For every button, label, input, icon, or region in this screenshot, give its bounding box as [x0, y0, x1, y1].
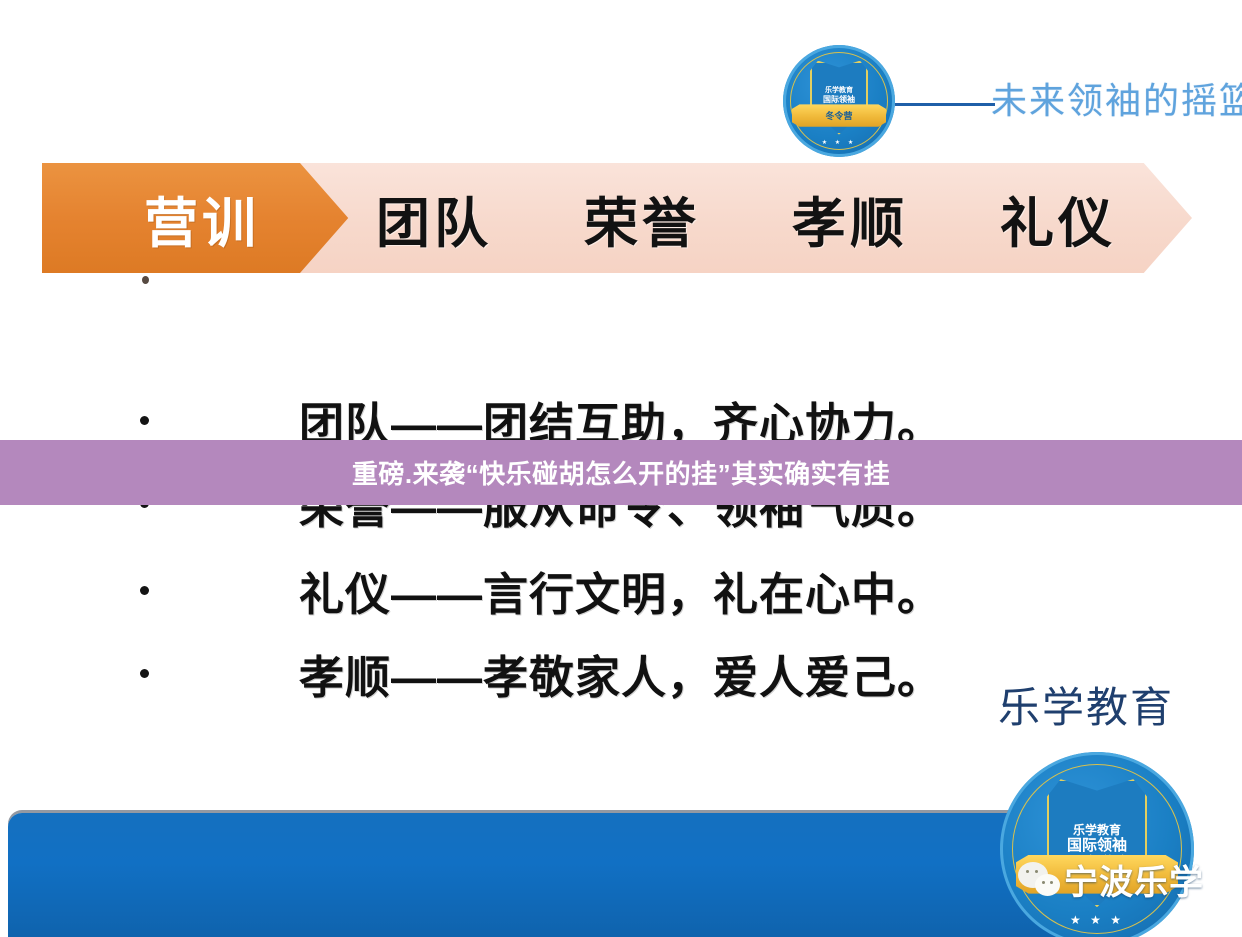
slide-canvas: 乐学教育 国际领袖 International leader 冬令营 ★ ★ ★…	[0, 0, 1242, 937]
logo-connector-line	[895, 103, 995, 106]
promo-overlay-banner: 重磅.来袭“快乐碰胡怎么开的挂”其实确实有挂	[0, 440, 1242, 505]
watermark-shield-line1: 乐学教育	[1073, 824, 1121, 838]
badge-ribbon: 冬令营	[792, 104, 886, 126]
list-item-text: 礼仪——言行文明，礼在心中。	[299, 558, 943, 623]
chevron-step-1[interactable]: 营训	[42, 163, 362, 273]
badge-stars: ★ ★ ★	[783, 139, 895, 146]
brand-tagline: 未来领袖的摇篮	[991, 72, 1242, 124]
badge-ribbon-text: 冬令营	[825, 109, 852, 122]
chevron-band: 营训 团队 荣誉 孝顺 礼仪	[42, 163, 1162, 273]
wechat-account-name: 宁波乐学	[1064, 855, 1204, 904]
watermark-lockup: 乐学教育 乐学教育 国际领袖 International leader ★ ★ …	[962, 662, 1242, 937]
wechat-icon	[1018, 862, 1062, 898]
bottom-blue-bar	[8, 813, 1088, 937]
wechat-account-lockup: 宁波乐学	[1018, 855, 1204, 904]
chevron-step-3-label: 荣誉	[584, 179, 700, 258]
brand-badge-icon: 乐学教育 国际领袖 International leader 冬令营 ★ ★ ★	[783, 45, 895, 157]
bullet-dot-icon	[140, 669, 149, 678]
watermark-title: 乐学教育	[998, 674, 1174, 735]
badge-shield-line1: 乐学教育	[825, 87, 853, 95]
watermark-stars: ★ ★ ★	[1000, 913, 1194, 927]
chevron-step-2-label: 团队	[376, 179, 492, 258]
bullet-dot-icon	[140, 416, 149, 425]
watermark-badge-icon: 乐学教育 国际领袖 International leader ★ ★ ★	[1000, 752, 1194, 937]
watermark-shield-line2: 国际领袖	[1067, 837, 1127, 854]
logo-lockup: 乐学教育 国际领袖 International leader 冬令营 ★ ★ ★…	[783, 45, 1203, 170]
promo-banner-text: 重磅.来袭“快乐碰胡怎么开的挂”其实确实有挂	[352, 454, 890, 491]
bullet-marker-hidden	[142, 276, 149, 284]
bullet-dot-icon	[140, 586, 149, 595]
chevron-step-1-label: 营训	[144, 179, 260, 258]
list-item: 孝顺——孝敬家人，爱人爱己。	[140, 641, 943, 706]
list-item: 礼仪——言行文明，礼在心中。	[140, 558, 943, 623]
list-item-text: 孝顺——孝敬家人，爱人爱己。	[299, 641, 943, 706]
chevron-step-5-label: 礼仪	[1000, 179, 1116, 258]
chevron-step-4-label: 孝顺	[792, 179, 908, 258]
